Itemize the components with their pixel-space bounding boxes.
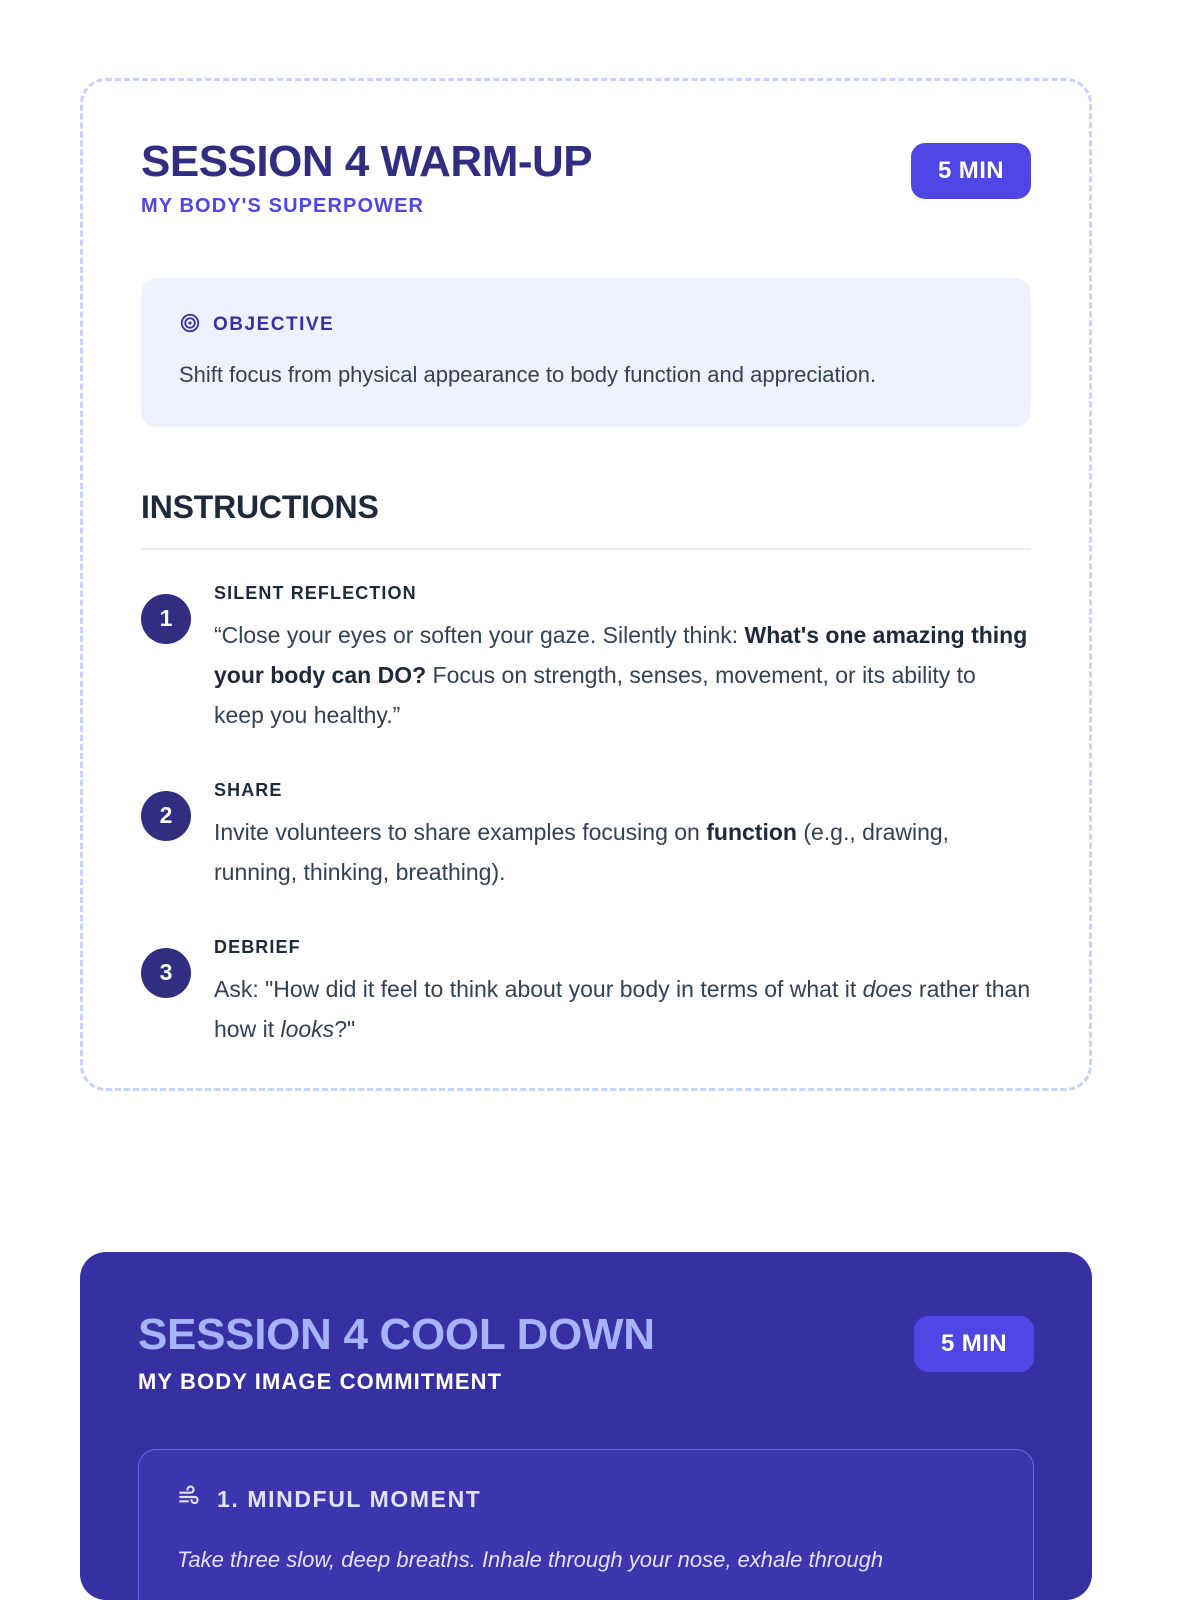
cooldown-card: SESSION 4 COOL DOWN MY BODY IMAGE COMMIT… (80, 1252, 1092, 1600)
instruction-step: 2SHAREInvite volunteers to share example… (141, 779, 1031, 892)
warmup-title: SESSION 4 WARM-UP (141, 139, 592, 186)
step-number-badge: 1 (141, 594, 191, 644)
worksheet-page: SESSION 4 WARM-UP MY BODY'S SUPERPOWER 5… (0, 0, 1200, 1600)
mindful-moment-header: 1. MINDFUL MOMENT (177, 1484, 995, 1515)
cooldown-card-header: SESSION 4 COOL DOWN MY BODY IMAGE COMMIT… (138, 1312, 1034, 1395)
step-number-badge: 2 (141, 791, 191, 841)
warmup-heading-group: SESSION 4 WARM-UP MY BODY'S SUPERPOWER (141, 139, 592, 218)
wind-icon (177, 1484, 203, 1515)
cooldown-title: SESSION 4 COOL DOWN (138, 1312, 655, 1359)
warmup-duration-badge: 5 MIN (911, 143, 1031, 199)
cooldown-duration-badge: 5 MIN (914, 1316, 1034, 1372)
cooldown-heading-group: SESSION 4 COOL DOWN MY BODY IMAGE COMMIT… (138, 1312, 655, 1395)
step-number-badge: 3 (141, 948, 191, 998)
instruction-step: 1SILENT REFLECTION“Close your eyes or so… (141, 582, 1031, 735)
step-label: SILENT REFLECTION (214, 583, 1031, 604)
step-body: DEBRIEFAsk: "How did it feel to think ab… (214, 936, 1031, 1049)
instruction-step: 3DEBRIEFAsk: "How did it feel to think a… (141, 936, 1031, 1049)
step-body: SILENT REFLECTION“Close your eyes or sof… (214, 582, 1031, 735)
objective-label: OBJECTIVE (213, 314, 334, 336)
step-label: DEBRIEF (214, 937, 1031, 958)
mindful-moment-text: Take three slow, deep breaths. Inhale th… (177, 1542, 995, 1577)
objective-box: OBJECTIVE Shift focus from physical appe… (141, 278, 1031, 427)
instruction-steps-list: 1SILENT REFLECTION“Close your eyes or so… (141, 582, 1031, 1049)
step-body: SHAREInvite volunteers to share examples… (214, 779, 1031, 892)
step-label: SHARE (214, 780, 1031, 801)
warmup-card: SESSION 4 WARM-UP MY BODY'S SUPERPOWER 5… (80, 78, 1092, 1091)
target-icon (179, 312, 201, 339)
cooldown-subtitle: MY BODY IMAGE COMMITMENT (138, 1369, 655, 1395)
instructions-divider (141, 548, 1031, 550)
step-text: Ask: "How did it feel to think about you… (214, 969, 1031, 1049)
instructions-heading: INSTRUCTIONS (141, 489, 1031, 526)
mindful-moment-label: 1. MINDFUL MOMENT (217, 1486, 481, 1513)
objective-header: OBJECTIVE (179, 312, 993, 339)
warmup-subtitle: MY BODY'S SUPERPOWER (141, 195, 592, 218)
warmup-card-header: SESSION 4 WARM-UP MY BODY'S SUPERPOWER 5… (141, 139, 1031, 218)
step-text: Invite volunteers to share examples focu… (214, 812, 1031, 892)
mindful-moment-box: 1. MINDFUL MOMENT Take three slow, deep … (138, 1449, 1034, 1600)
step-text: “Close your eyes or soften your gaze. Si… (214, 615, 1031, 735)
objective-text: Shift focus from physical appearance to … (179, 359, 993, 391)
